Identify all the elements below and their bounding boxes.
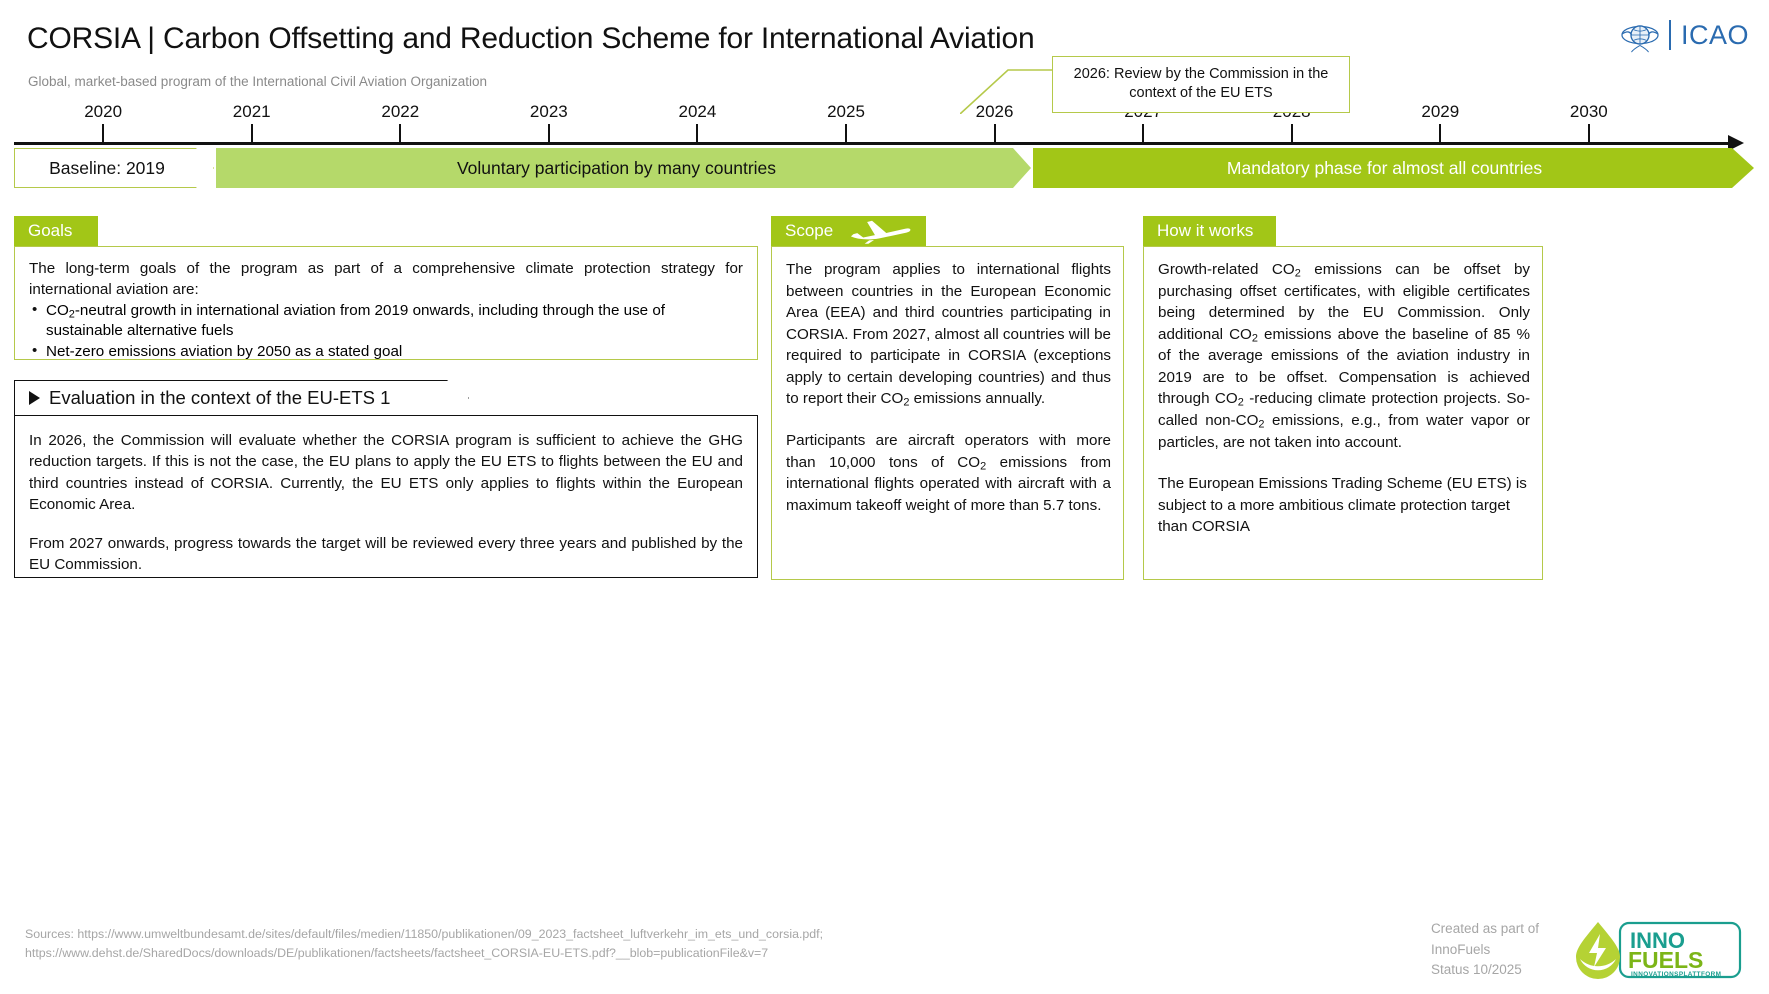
page-subtitle: Global, market-based program of the Inte… — [28, 74, 487, 89]
timeline-year-2029: 2029 — [1421, 102, 1459, 122]
phase-bar-mandatory-label: Mandatory phase for almost all countries — [1227, 158, 1560, 179]
icao-logo: ICAO — [1621, 16, 1749, 54]
evaluation-header-label: Evaluation in the context of the EU-ETS … — [49, 387, 390, 409]
timeline-line — [14, 142, 1730, 145]
timeline-tick-2021 — [251, 124, 253, 143]
phase-bar-mandatory: Mandatory phase for almost all countries — [1033, 148, 1754, 188]
timeline-year-2026: 2026 — [976, 102, 1014, 122]
infographic-page: CORSIA | Carbon Offsetting and Reduction… — [0, 0, 1769, 994]
timeline-year-2025: 2025 — [827, 102, 865, 122]
timeline-tick-2022 — [399, 124, 401, 143]
timeline-tick-2027 — [1142, 124, 1144, 143]
airplane-icon — [847, 218, 912, 244]
how-it-works-paragraph-1: Growth-related CO2 emissions can be offs… — [1158, 259, 1530, 453]
sources-line-2: https://www.dehst.de/SharedDocs/download… — [25, 944, 1025, 963]
list-item: Net-zero emissions aviation by 2050 as a… — [29, 342, 743, 363]
phase-bar-baseline-label: Baseline: 2019 — [49, 158, 179, 179]
list-item: CO2-neutral growth in international avia… — [29, 301, 743, 343]
evaluation-panel: In 2026, the Commission will evaluate wh… — [14, 415, 758, 578]
icao-winged-globe-icon — [1621, 16, 1659, 54]
goals-bullet-list: CO2-neutral growth in international avia… — [29, 301, 743, 363]
page-title: CORSIA | Carbon Offsetting and Reduction… — [27, 22, 1034, 56]
scope-paragraph-2: Participants are aircraft operators with… — [786, 430, 1111, 516]
timeline-phase-bars: Baseline: 2019 Voluntary participation b… — [14, 148, 1754, 188]
timeline-tick-2030 — [1588, 124, 1590, 143]
scope-panel: The program applies to international fli… — [771, 246, 1124, 580]
timeline-tick-2025 — [845, 124, 847, 143]
phase-bar-baseline: Baseline: 2019 — [14, 148, 214, 188]
timeline-tick-2026 — [994, 124, 996, 143]
timeline-tick-2028 — [1291, 124, 1293, 143]
timeline-tick-2023 — [548, 124, 550, 143]
evaluation-header: Evaluation in the context of the EU-ETS … — [14, 380, 469, 416]
how-it-works-paragraph-2: The European Emissions Trading Scheme (E… — [1158, 473, 1530, 538]
evaluation-paragraph-2: From 2027 onwards, progress towards the … — [29, 533, 743, 576]
credit-line-2: InnoFuels — [1431, 940, 1539, 961]
timeline-year-2030: 2030 — [1570, 102, 1608, 122]
goals-bullet-2: Net-zero emissions aviation by 2050 as a… — [46, 343, 402, 360]
goals-intro: The long-term goals of the program as pa… — [29, 259, 743, 301]
phase-bar-voluntary: Voluntary participation by many countrie… — [216, 148, 1031, 188]
timeline-year-2024: 2024 — [679, 102, 717, 122]
how-it-works-tab: How it works — [1143, 216, 1276, 246]
scope-tab: Scope — [771, 216, 926, 246]
credit-line-1: Created as part of — [1431, 919, 1539, 940]
logo-divider — [1669, 20, 1671, 50]
credit-line-3: Status 10/2025 — [1431, 960, 1539, 981]
sources-line-1: Sources: https://www.umweltbundesamt.de/… — [25, 925, 1025, 944]
credit-note: Created as part of InnoFuels Status 10/2… — [1431, 919, 1539, 981]
timeline-tick-2029 — [1439, 124, 1441, 143]
how-it-works-panel: Growth-related CO2 emissions can be offs… — [1143, 246, 1543, 580]
scope-tab-label: Scope — [785, 221, 833, 241]
goals-panel: The long-term goals of the program as pa… — [14, 246, 758, 360]
evaluation-paragraph-1: In 2026, the Commission will evaluate wh… — [29, 430, 743, 515]
timeline-year-2021: 2021 — [233, 102, 271, 122]
timeline-year-2022: 2022 — [381, 102, 419, 122]
timeline-year-2020: 2020 — [84, 102, 122, 122]
innofuels-logo: INNO FUELS INNOVATIONSPLATTFORM — [1568, 917, 1744, 983]
timeline-year-2023: 2023 — [530, 102, 568, 122]
innofuels-tagline-text: INNOVATIONSPLATTFORM — [1631, 971, 1721, 978]
sources-note: Sources: https://www.umweltbundesamt.de/… — [25, 925, 1025, 963]
play-triangle-icon — [29, 391, 40, 405]
goals-tab: Goals — [14, 216, 98, 246]
callout-2026-review: 2026: Review by the Commission in the co… — [1052, 56, 1350, 113]
phase-bar-voluntary-label: Voluntary participation by many countrie… — [457, 158, 790, 179]
icao-wordmark: ICAO — [1681, 20, 1749, 51]
scope-paragraph-1: The program applies to international fli… — [786, 259, 1111, 410]
timeline-tick-2020 — [102, 124, 104, 143]
innofuels-fuels-text: FUELS — [1628, 947, 1703, 973]
timeline-tick-2024 — [696, 124, 698, 143]
goals-bullet-1: CO2-neutral growth in international avia… — [46, 302, 665, 340]
